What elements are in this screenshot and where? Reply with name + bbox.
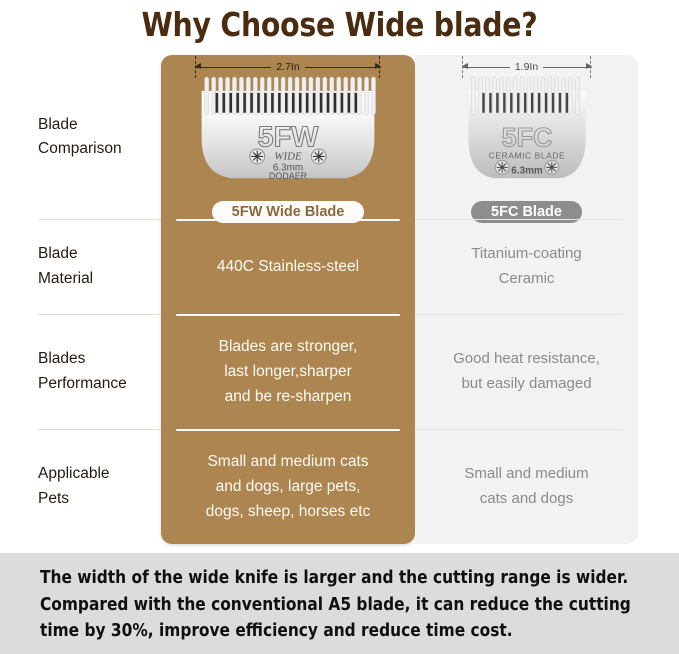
ceramic-blade-dimension: 1.9In: [462, 59, 592, 75]
ceramic-blade-image: 5FC CERAMIC BLADE 6.3mm: [462, 75, 592, 196]
comparison-table: Blade Comparison 2.7In: [0, 55, 679, 544]
wide-blade-pets-cell: Small and medium cats and dogs, large pe…: [161, 429, 415, 544]
row-label-blades-performance: Blades Performance: [38, 314, 158, 429]
wide-blade-model-engraving: 5FW: [258, 121, 320, 153]
row-label-line: Material: [38, 267, 158, 291]
wide-blade-performance-cell: Blades are stronger, last longer,sharper…: [161, 314, 415, 429]
wide-dimension-text: 2.7In: [271, 61, 304, 73]
row-label-line: Applicable: [38, 462, 158, 486]
row-label-line: Blades: [38, 347, 158, 371]
cell-line: 440C Stainless-steel: [217, 254, 359, 279]
ceramic-dimension-text: 1.9In: [510, 61, 543, 73]
cell-line: Small and medium cats: [207, 449, 368, 474]
screw-icon: [250, 149, 265, 164]
wide-blade-material-cell: 440C Stainless-steel: [161, 219, 415, 314]
row-label-line: Comparison: [38, 137, 158, 161]
cell-line: but easily damaged: [461, 372, 591, 396]
row-label-blade-material: Blade Material: [38, 219, 158, 314]
table-row: Blade Material 440C Stainless-steel Tita…: [0, 219, 679, 314]
row-label-applicable-pets: Applicable Pets: [38, 429, 158, 544]
wide-blade-dimension: 2.7In: [195, 59, 381, 75]
ceramic-blade-sublabel-engraving: CERAMIC BLADE: [488, 150, 565, 160]
table-row: Blade Comparison 2.7In: [0, 55, 679, 219]
cell-line: cats and dogs: [480, 487, 573, 511]
infographic-root: Why Choose Wide blade? Blade Comparison …: [0, 0, 679, 654]
cell-line: Small and medium: [464, 462, 588, 486]
screw-icon: [311, 149, 326, 164]
cell-line: Titanium-coating: [471, 242, 581, 266]
caption-line-1: The width of the wide knife is larger an…: [40, 565, 636, 592]
screw-icon: [544, 160, 558, 174]
wide-blade-image: 5FW WIDE 6.3mm DODAER: [195, 75, 381, 196]
ceramic-blade-pets-cell: Small and medium cats and dogs: [415, 429, 638, 544]
table-row: Applicable Pets Small and medium cats an…: [0, 429, 679, 544]
cell-line: and dogs, large pets,: [216, 474, 361, 499]
ceramic-blade-model-engraving: 5FC: [501, 122, 552, 152]
caption-line-3: time by 30%, improve efficiency and redu…: [40, 618, 636, 645]
summary-caption: The width of the wide knife is larger an…: [0, 553, 679, 654]
wide-blade-cell: 2.7In: [161, 55, 415, 223]
wide-blade-brand-engraving: DODAER: [269, 171, 308, 181]
ceramic-blade-cell: 1.9In: [415, 55, 638, 223]
row-label-line: Blade: [38, 242, 158, 266]
row-label-line: Pets: [38, 487, 158, 511]
row-label-line: Performance: [38, 372, 158, 396]
row-label-line: Blade: [38, 113, 158, 137]
page-title: Why Choose Wide blade?: [48, 0, 632, 48]
caption-line-2: Compared with the conventional A5 blade,…: [40, 592, 636, 619]
ceramic-blade-performance-cell: Good heat resistance, but easily damaged: [415, 314, 638, 429]
cell-line: last longer,sharper: [224, 359, 352, 384]
cell-line: Ceramic: [499, 267, 555, 291]
cell-line: dogs, sheep, horses etc: [206, 499, 371, 524]
cell-line: Blades are stronger,: [219, 334, 358, 359]
wide-blade-sublabel-engraving: WIDE: [274, 150, 302, 162]
ceramic-blade-size-engraving: 6.3mm: [511, 165, 543, 176]
table-row: Blades Performance Blades are stronger, …: [0, 314, 679, 429]
cell-line: Good heat resistance,: [453, 347, 600, 371]
ceramic-blade-material-cell: Titanium-coating Ceramic: [415, 219, 638, 314]
cell-line: and be re-sharpen: [225, 384, 352, 409]
row-label-blade-comparison: Blade Comparison: [38, 55, 158, 219]
screw-icon: [495, 160, 509, 174]
